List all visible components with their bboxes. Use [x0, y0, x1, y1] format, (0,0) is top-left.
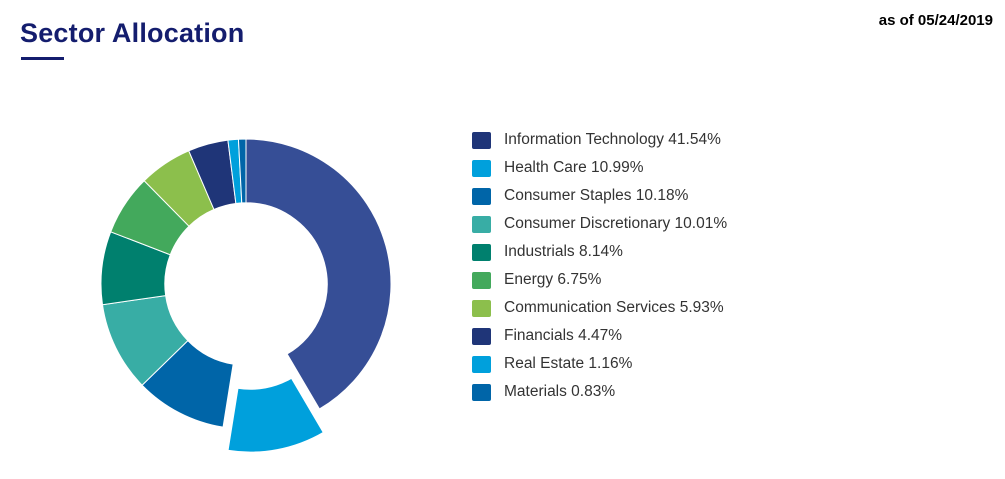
legend-item-information-technology[interactable]: Information Technology 41.54%	[472, 126, 902, 154]
legend-label-consumer-discretionary: Consumer Discretionary 10.01%	[504, 215, 727, 233]
legend-item-communication-services[interactable]: Communication Services 5.93%	[472, 294, 902, 322]
legend-swatch-health-care	[472, 160, 491, 177]
legend-swatch-energy	[472, 272, 491, 289]
donut-slice-group	[101, 139, 391, 453]
legend-label-materials: Materials 0.83%	[504, 383, 615, 401]
as-of-date-label: as of 05/24/2019	[879, 12, 993, 29]
legend-item-financials[interactable]: Financials 4.47%	[472, 322, 902, 350]
legend-swatch-materials	[472, 384, 491, 401]
legend-item-real-estate[interactable]: Real Estate 1.16%	[472, 350, 902, 378]
legend-label-communication-services: Communication Services 5.93%	[504, 299, 724, 317]
page-title: Sector Allocation	[20, 18, 244, 49]
donut-slice-information-technology[interactable]	[246, 139, 391, 409]
legend-item-materials[interactable]: Materials 0.83%	[472, 378, 902, 406]
donut-chart-svg	[50, 88, 470, 479]
legend-swatch-consumer-staples	[472, 188, 491, 205]
legend-item-energy[interactable]: Energy 6.75%	[472, 266, 902, 294]
title-underline-accent	[21, 57, 64, 60]
legend-label-consumer-staples: Consumer Staples 10.18%	[504, 187, 688, 205]
legend-swatch-industrials	[472, 244, 491, 261]
legend-item-health-care[interactable]: Health Care 10.99%	[472, 154, 902, 182]
legend-label-financials: Financials 4.47%	[504, 327, 622, 345]
legend-swatch-information-technology	[472, 132, 491, 149]
sector-allocation-donut-chart	[50, 88, 470, 479]
legend-swatch-communication-services	[472, 300, 491, 317]
legend-swatch-real-estate	[472, 356, 491, 373]
legend-label-energy: Energy 6.75%	[504, 271, 601, 289]
legend-item-consumer-discretionary[interactable]: Consumer Discretionary 10.01%	[472, 210, 902, 238]
legend-item-industrials[interactable]: Industrials 8.14%	[472, 238, 902, 266]
legend-label-information-technology: Information Technology 41.54%	[504, 131, 721, 149]
legend-item-consumer-staples[interactable]: Consumer Staples 10.18%	[472, 182, 902, 210]
page-header: Sector Allocation as of 05/24/2019	[0, 0, 1005, 80]
chart-legend: Information Technology 41.54%Health Care…	[472, 126, 902, 406]
legend-label-real-estate: Real Estate 1.16%	[504, 355, 632, 373]
legend-swatch-consumer-discretionary	[472, 216, 491, 233]
legend-label-industrials: Industrials 8.14%	[504, 243, 623, 261]
legend-label-health-care: Health Care 10.99%	[504, 159, 644, 177]
legend-swatch-financials	[472, 328, 491, 345]
